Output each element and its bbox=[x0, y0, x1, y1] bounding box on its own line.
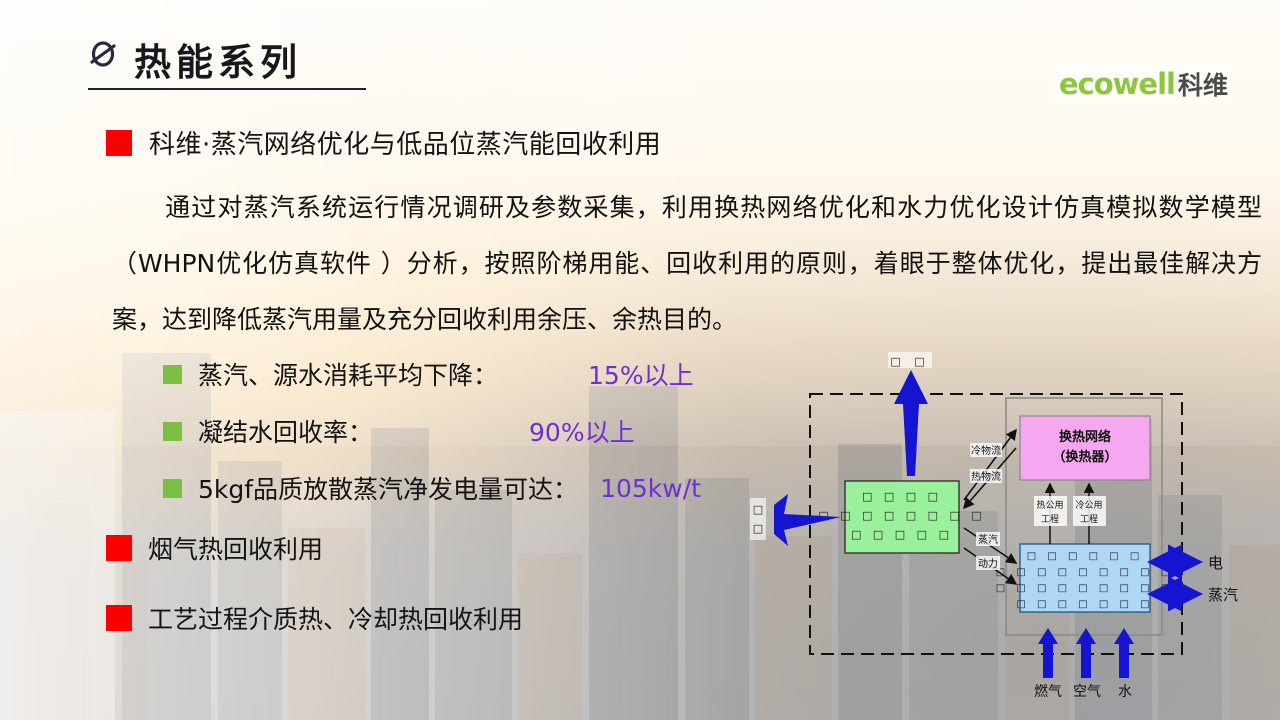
cold-stream-label: 冷物流 bbox=[971, 444, 1001, 457]
red-square-bullet-icon bbox=[106, 130, 132, 156]
bullet-2-label: 烟气热回收利用 bbox=[148, 530, 323, 566]
bullet-item-2: 烟气热回收利用 bbox=[106, 530, 323, 566]
metric-3-value: 105kw/t bbox=[600, 474, 701, 503]
body-paragraph-text: 通过对蒸汽系统运行情况调研及参数采集，利用换热网络优化和水力优化设计仿真模拟数学… bbox=[112, 193, 1262, 334]
bullet-3-label: 工艺过程介质热、冷却热回收利用 bbox=[148, 600, 523, 636]
process-box-green-line2: □ □ □ □ □ □ □ □ bbox=[818, 509, 986, 522]
body-paragraph: 通过对蒸汽系统运行情况调研及参数采集，利用换热网络优化和水力优化设计仿真模拟数学… bbox=[112, 180, 1262, 348]
green-square-bullet-icon bbox=[163, 365, 182, 384]
top-output-arrow bbox=[894, 370, 928, 476]
brand-logo: ecowell 科维 bbox=[1055, 64, 1232, 104]
metric-2-value: 90%以上 bbox=[529, 413, 635, 449]
metric-2-label: 凝结水回收率： bbox=[198, 413, 373, 449]
hen-label-line1: 换热网络 bbox=[1059, 429, 1111, 445]
process-box-green-line3: □ □ □ □ □ bbox=[851, 528, 953, 541]
bullet-item-3: 工艺过程介质热、冷却热回收利用 bbox=[106, 600, 523, 636]
process-flow-diagram: □ □ □ □ □ □ □ □ □ □ □ □ □ □ □ □ □ 换热网络 （… bbox=[748, 348, 1280, 720]
bullet-1-label: 科维·蒸汽网络优化与低品位蒸汽能回收利用 bbox=[149, 124, 661, 161]
cold-utility-label-line1: 冷公用 bbox=[1075, 499, 1102, 511]
utility-box-line2: □ □ □ □ □ □ □ □ □ bbox=[996, 567, 1174, 578]
metric-3-label: 5kgf品质放散蒸汽净发电量可达： bbox=[198, 470, 578, 506]
title-underline bbox=[88, 88, 366, 90]
utility-box-line3: □ □ □ □ □ □ □ □ □ bbox=[996, 583, 1174, 594]
logo-latin-text: ecowell bbox=[1059, 67, 1175, 101]
steam-output-label: 蒸汽 bbox=[1208, 586, 1238, 604]
power-stream-label: 动力 bbox=[978, 557, 998, 570]
metric-row-2: 凝结水回收率： 90%以上 bbox=[163, 413, 635, 449]
metric-1-label: 蒸汽、源水消耗平均下降： bbox=[198, 356, 498, 392]
metric-row-3: 5kgf品质放散蒸汽净发电量可达： 105kw/t bbox=[163, 470, 701, 506]
hen-label-line2: （换热器） bbox=[1052, 449, 1117, 465]
cold-utility-label-line2: 工程 bbox=[1080, 514, 1098, 525]
utility-box-line4: □ □ □ □ □ □ □ bbox=[1016, 599, 1153, 610]
red-square-bullet-icon bbox=[106, 535, 132, 561]
heat-exchange-network-box bbox=[1020, 416, 1150, 480]
page-title: 热能系列 bbox=[134, 32, 302, 86]
cold-stream-arrow bbox=[964, 430, 1016, 500]
utility-box-line1: □ □ □ □ □ □ bbox=[1027, 551, 1144, 562]
left-input-label-1: □ bbox=[753, 503, 763, 516]
red-square-bullet-icon bbox=[106, 605, 132, 631]
logo-chinese-text: 科维 bbox=[1178, 66, 1228, 102]
steam-stream-label: 蒸汽 bbox=[978, 533, 998, 546]
bullet-item-1: 科维·蒸汽网络优化与低品位蒸汽能回收利用 bbox=[106, 124, 661, 161]
top-output-label: □ □ bbox=[890, 355, 929, 368]
left-input-label-2: □ bbox=[753, 522, 763, 535]
slashed-circle-icon bbox=[88, 40, 118, 70]
hot-utility-label-line2: 工程 bbox=[1041, 514, 1059, 525]
hot-utility-label-line1: 热公用 bbox=[1036, 499, 1063, 511]
water-label: 水 bbox=[1118, 684, 1132, 700]
metric-1-value: 15%以上 bbox=[588, 356, 694, 392]
fuel-gas-label: 燃气 bbox=[1034, 683, 1062, 700]
electricity-label: 电 bbox=[1208, 554, 1223, 572]
hot-stream-label: 热物流 bbox=[971, 470, 1001, 483]
green-square-bullet-icon bbox=[163, 479, 182, 498]
slide-canvas: 热能系列 ecowell 科维 科维·蒸汽网络优化与低品位蒸汽能回收利用 通过对… bbox=[0, 0, 1280, 720]
green-square-bullet-icon bbox=[163, 422, 182, 441]
metric-row-1: 蒸汽、源水消耗平均下降： 15%以上 bbox=[163, 356, 694, 392]
process-box-green-line1: □ □ □ □ bbox=[862, 490, 942, 503]
air-label: 空气 bbox=[1073, 684, 1101, 700]
